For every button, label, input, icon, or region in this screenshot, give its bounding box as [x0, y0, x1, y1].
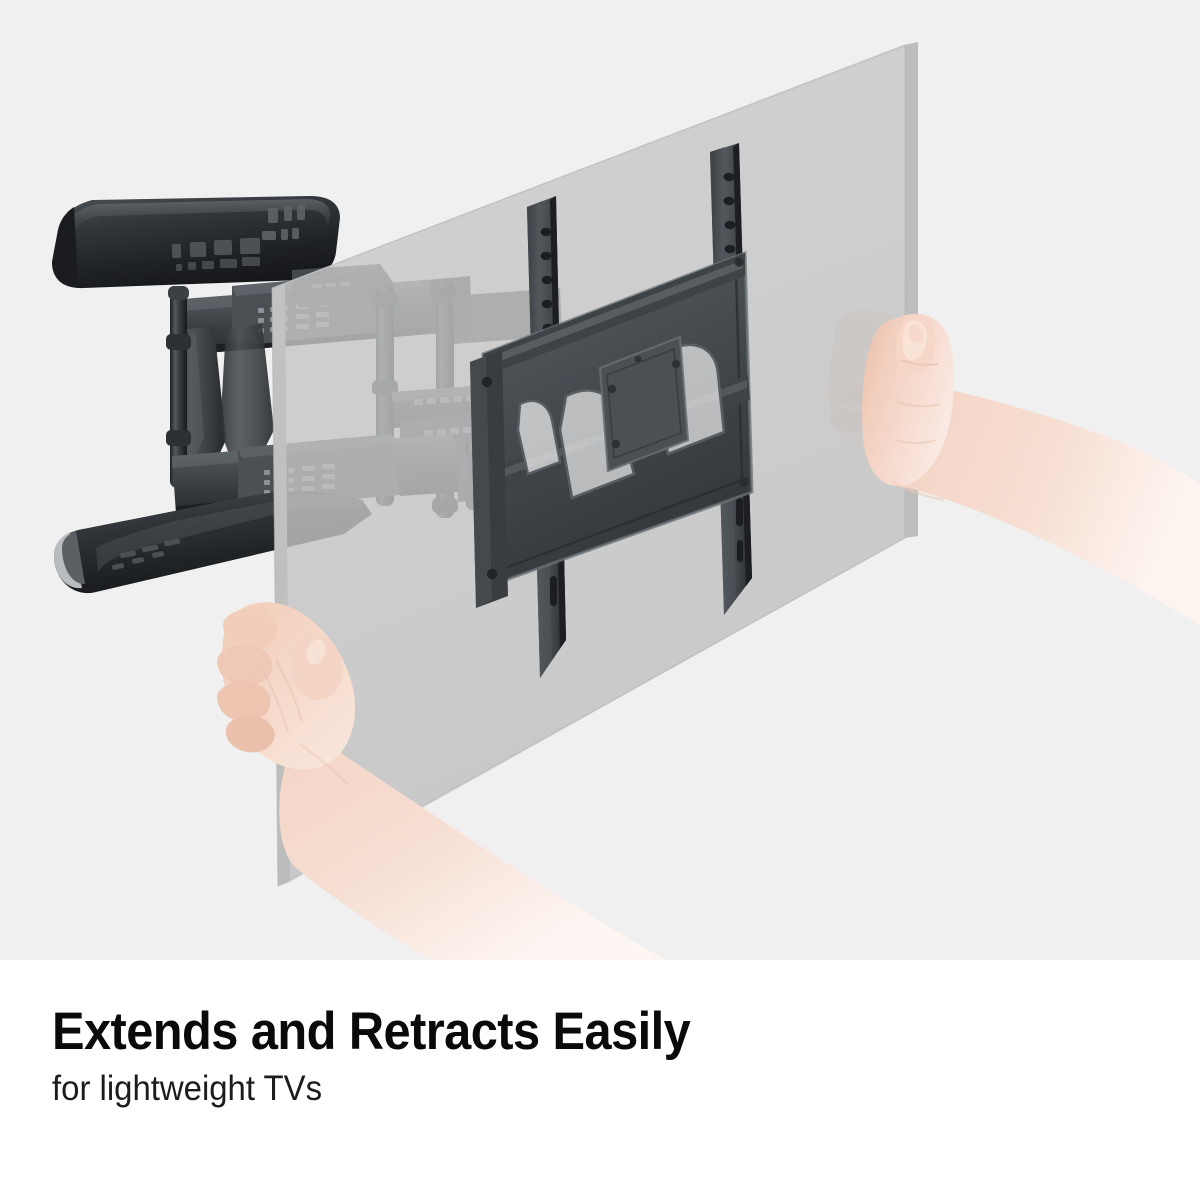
- hero-image: [0, 0, 1200, 960]
- headline: Extends and Retracts Easily: [52, 1002, 1055, 1062]
- tv-mount-illustration: [0, 0, 1200, 960]
- subheadline: for lightweight TVs: [52, 1066, 1077, 1112]
- caption-block: Extends and Retracts Easily for lightwei…: [0, 960, 1200, 1200]
- tilt-knuckle: [470, 350, 508, 608]
- product-feature-card: Extends and Retracts Easily for lightwei…: [0, 0, 1200, 1200]
